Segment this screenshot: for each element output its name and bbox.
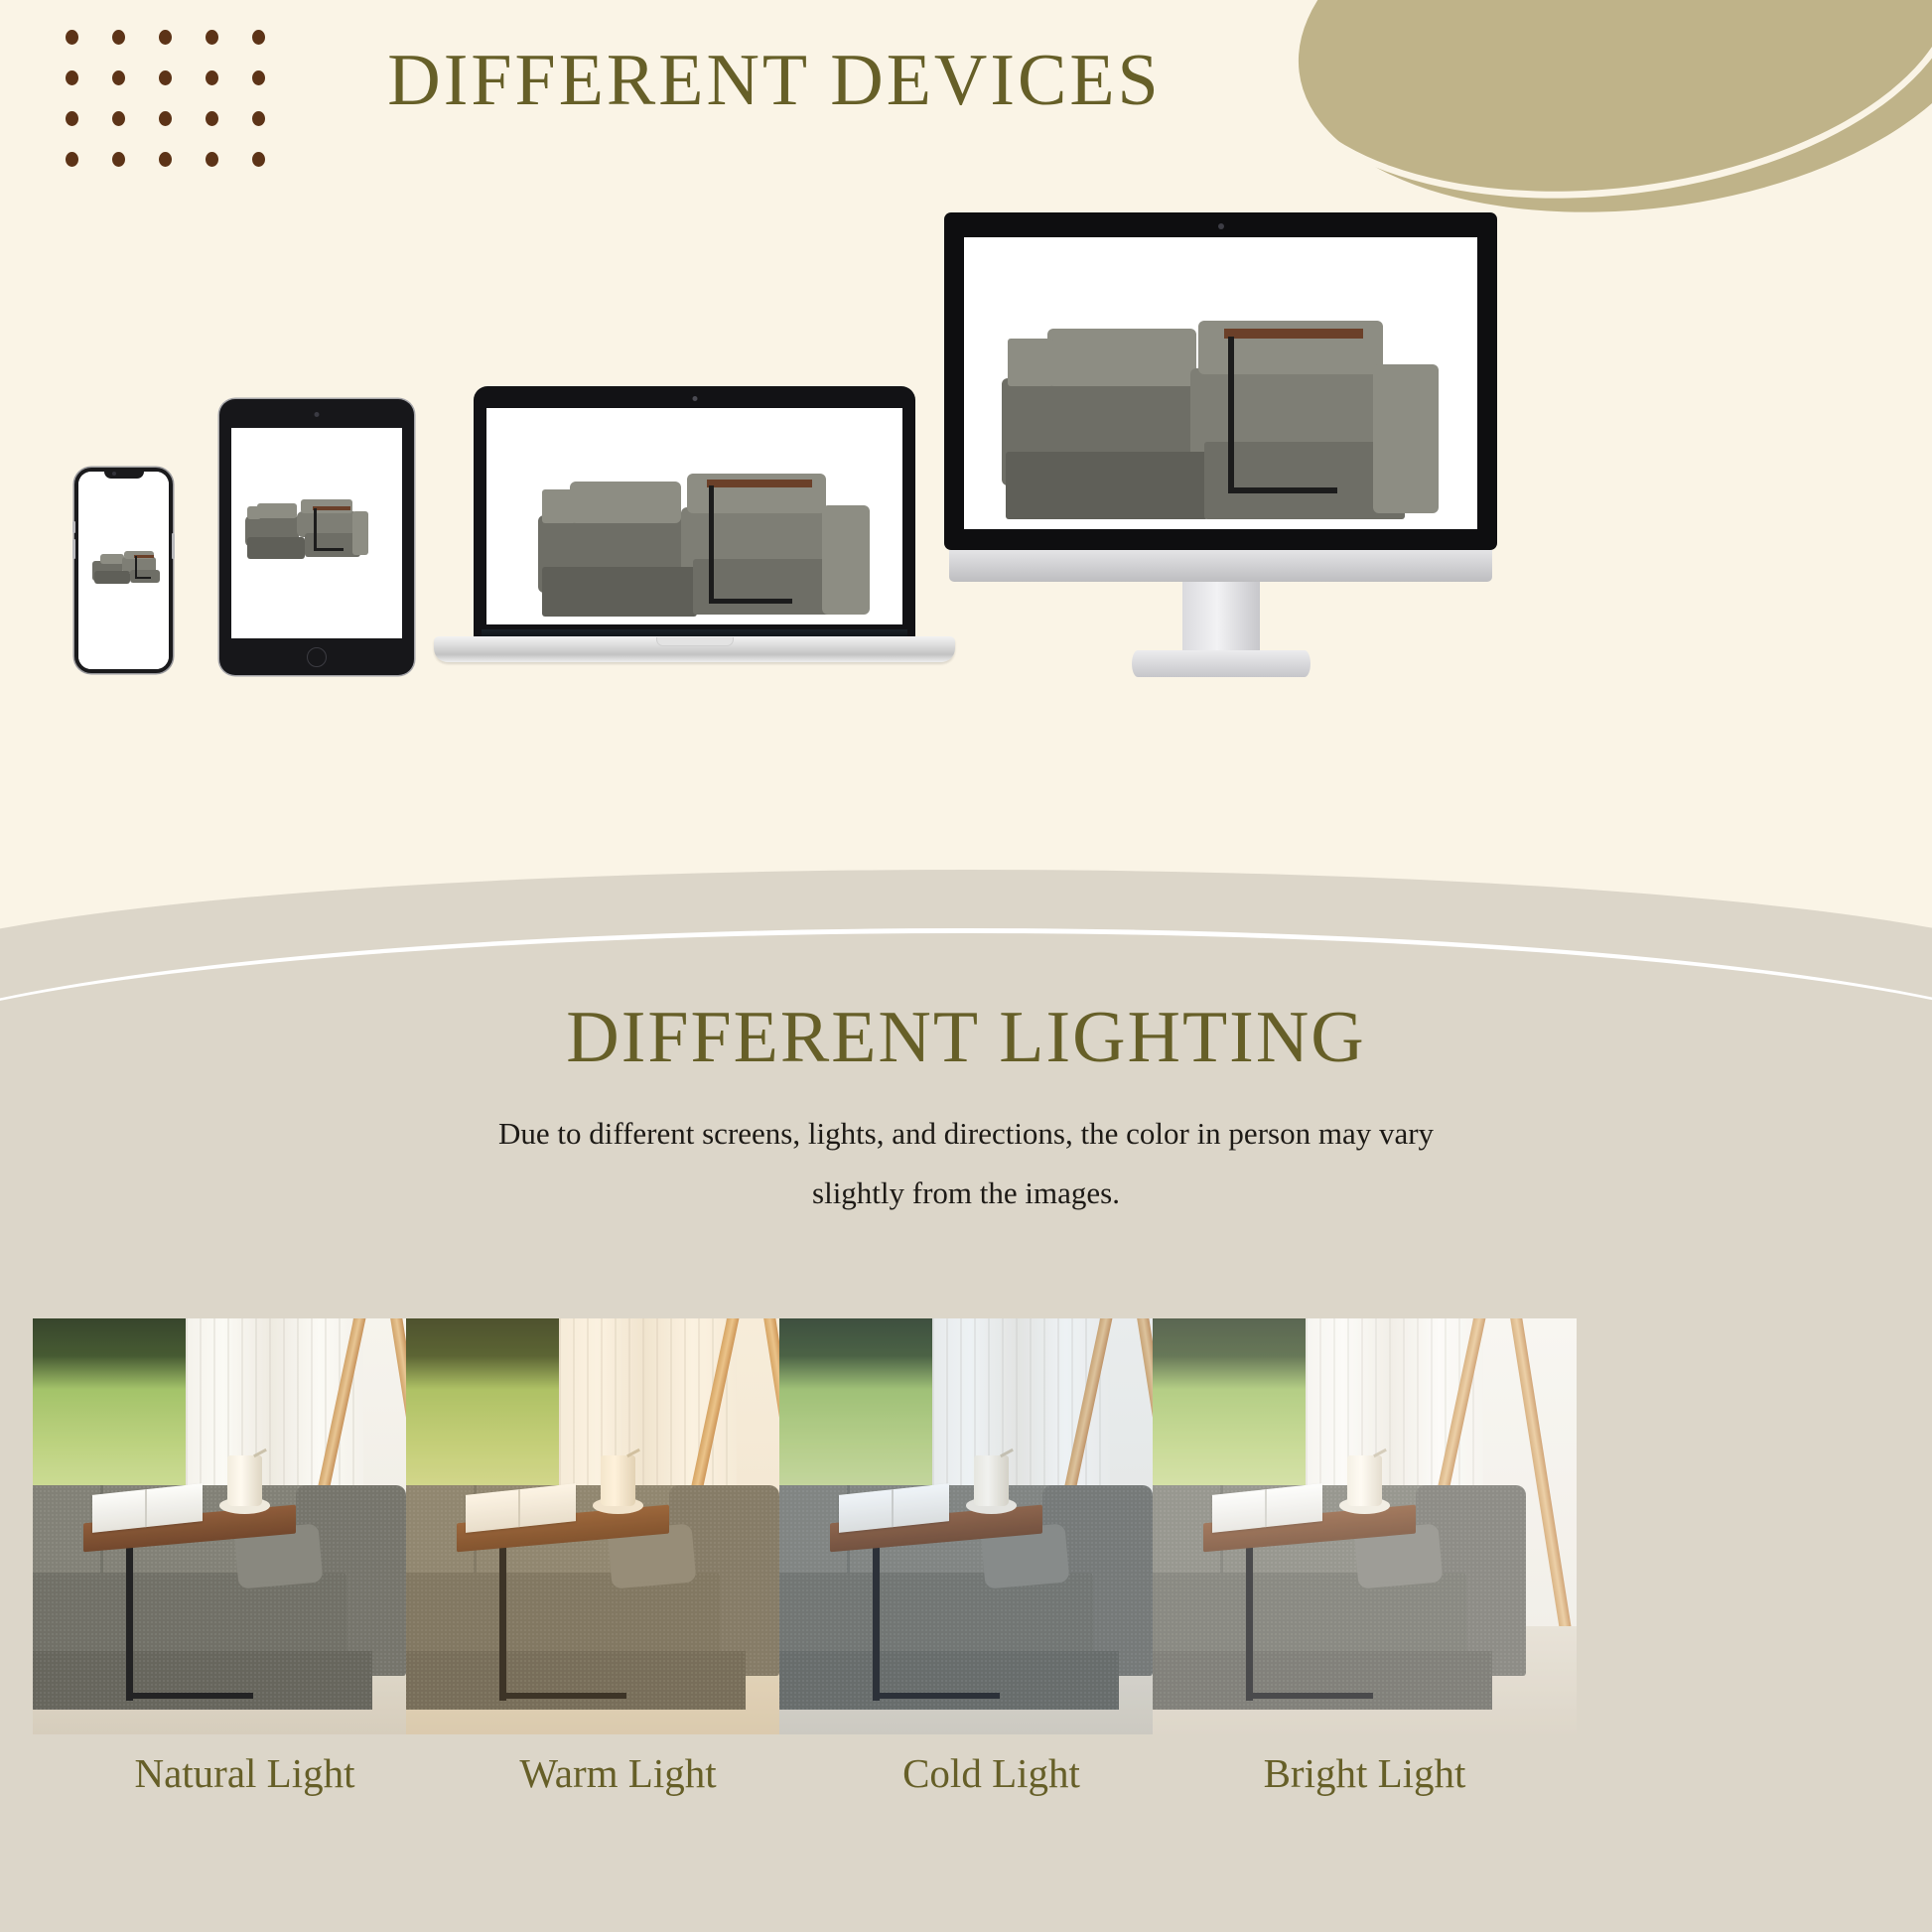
c-table-foot bbox=[499, 1693, 626, 1699]
lighting-photo-label: Bright Light bbox=[1153, 1753, 1577, 1794]
monitor-screen bbox=[964, 237, 1477, 529]
grid-dot bbox=[112, 152, 125, 167]
devices-section: DIFFERENT DEVICES bbox=[0, 0, 1932, 968]
laptop-trackpad-notch bbox=[656, 637, 734, 646]
coffee-mug bbox=[974, 1455, 1008, 1505]
monitor-sofa-scene bbox=[964, 237, 1477, 529]
tablet-screen bbox=[231, 428, 402, 638]
tablet-home-button[interactable] bbox=[307, 647, 327, 667]
grid-dot bbox=[206, 152, 218, 167]
monitor-neck bbox=[1182, 582, 1260, 653]
tablet-icon bbox=[219, 399, 414, 675]
phone-camera-icon bbox=[112, 472, 116, 476]
coffee-mug bbox=[601, 1455, 634, 1505]
laptop-camera-icon bbox=[692, 396, 697, 401]
c-table-leg bbox=[873, 1535, 880, 1702]
sofa-base bbox=[406, 1651, 746, 1710]
c-table-foot bbox=[873, 1693, 1000, 1699]
c-table-leg bbox=[499, 1535, 506, 1702]
laptop-icon bbox=[434, 386, 955, 682]
interior-photo bbox=[779, 1318, 1203, 1734]
lighting-photo-cold-light[interactable] bbox=[779, 1318, 1203, 1734]
grid-dot bbox=[252, 152, 265, 167]
tablet-camera-icon bbox=[315, 412, 320, 417]
phone-volume-down-button bbox=[72, 539, 75, 559]
c-table-leg bbox=[126, 1535, 133, 1702]
interior-photo bbox=[1153, 1318, 1577, 1734]
phone-screen bbox=[78, 472, 169, 669]
sofa-base bbox=[33, 1651, 372, 1710]
grid-dot bbox=[206, 30, 218, 45]
c-table-leg bbox=[1246, 1535, 1253, 1702]
monitor-camera-icon bbox=[1218, 223, 1224, 229]
phone-notch bbox=[104, 468, 144, 479]
phone-power-button bbox=[172, 533, 175, 559]
lighting-description: Due to different screens, lights, and di… bbox=[420, 1104, 1512, 1224]
grid-dot bbox=[66, 152, 78, 167]
laptop-screen bbox=[486, 408, 902, 624]
lighting-photo-label: Natural Light bbox=[33, 1753, 457, 1794]
c-table-foot bbox=[1246, 1693, 1373, 1699]
coffee-mug bbox=[1347, 1455, 1381, 1505]
desktop-monitor-icon bbox=[944, 212, 1497, 679]
phone-sofa-scene bbox=[78, 472, 169, 669]
lighting-description-line-2: slightly from the images. bbox=[420, 1164, 1512, 1223]
c-table-foot bbox=[126, 1693, 253, 1699]
lighting-description-line-1: Due to different screens, lights, and di… bbox=[420, 1104, 1512, 1164]
smartphone-icon bbox=[74, 468, 173, 673]
sofa-base bbox=[1153, 1651, 1492, 1710]
grid-dot bbox=[66, 30, 78, 45]
grid-dot bbox=[159, 30, 172, 45]
laptop-sofa-scene bbox=[486, 408, 902, 624]
grid-dot bbox=[112, 30, 125, 45]
grid-dot bbox=[252, 30, 265, 45]
monitor-chin bbox=[949, 550, 1492, 582]
lighting-photo-warm-light[interactable] bbox=[406, 1318, 830, 1734]
lighting-photo-row: Natural LightWarm LightCold LightBright … bbox=[0, 1318, 1932, 1932]
monitor-base bbox=[1132, 650, 1311, 677]
lighting-photo-bright-light[interactable] bbox=[1153, 1318, 1577, 1734]
interior-photo bbox=[33, 1318, 457, 1734]
interior-photo bbox=[406, 1318, 830, 1734]
lighting-photo-natural-light[interactable] bbox=[33, 1318, 457, 1734]
lighting-photo-label: Cold Light bbox=[779, 1753, 1203, 1794]
tablet-sofa-scene bbox=[231, 428, 402, 638]
sofa-base bbox=[779, 1651, 1119, 1710]
devices-section-title: DIFFERENT DEVICES bbox=[0, 44, 1549, 117]
coffee-mug bbox=[227, 1455, 261, 1505]
phone-volume-up-button bbox=[72, 521, 75, 533]
lighting-photo-label: Warm Light bbox=[406, 1753, 830, 1794]
grid-dot bbox=[159, 152, 172, 167]
